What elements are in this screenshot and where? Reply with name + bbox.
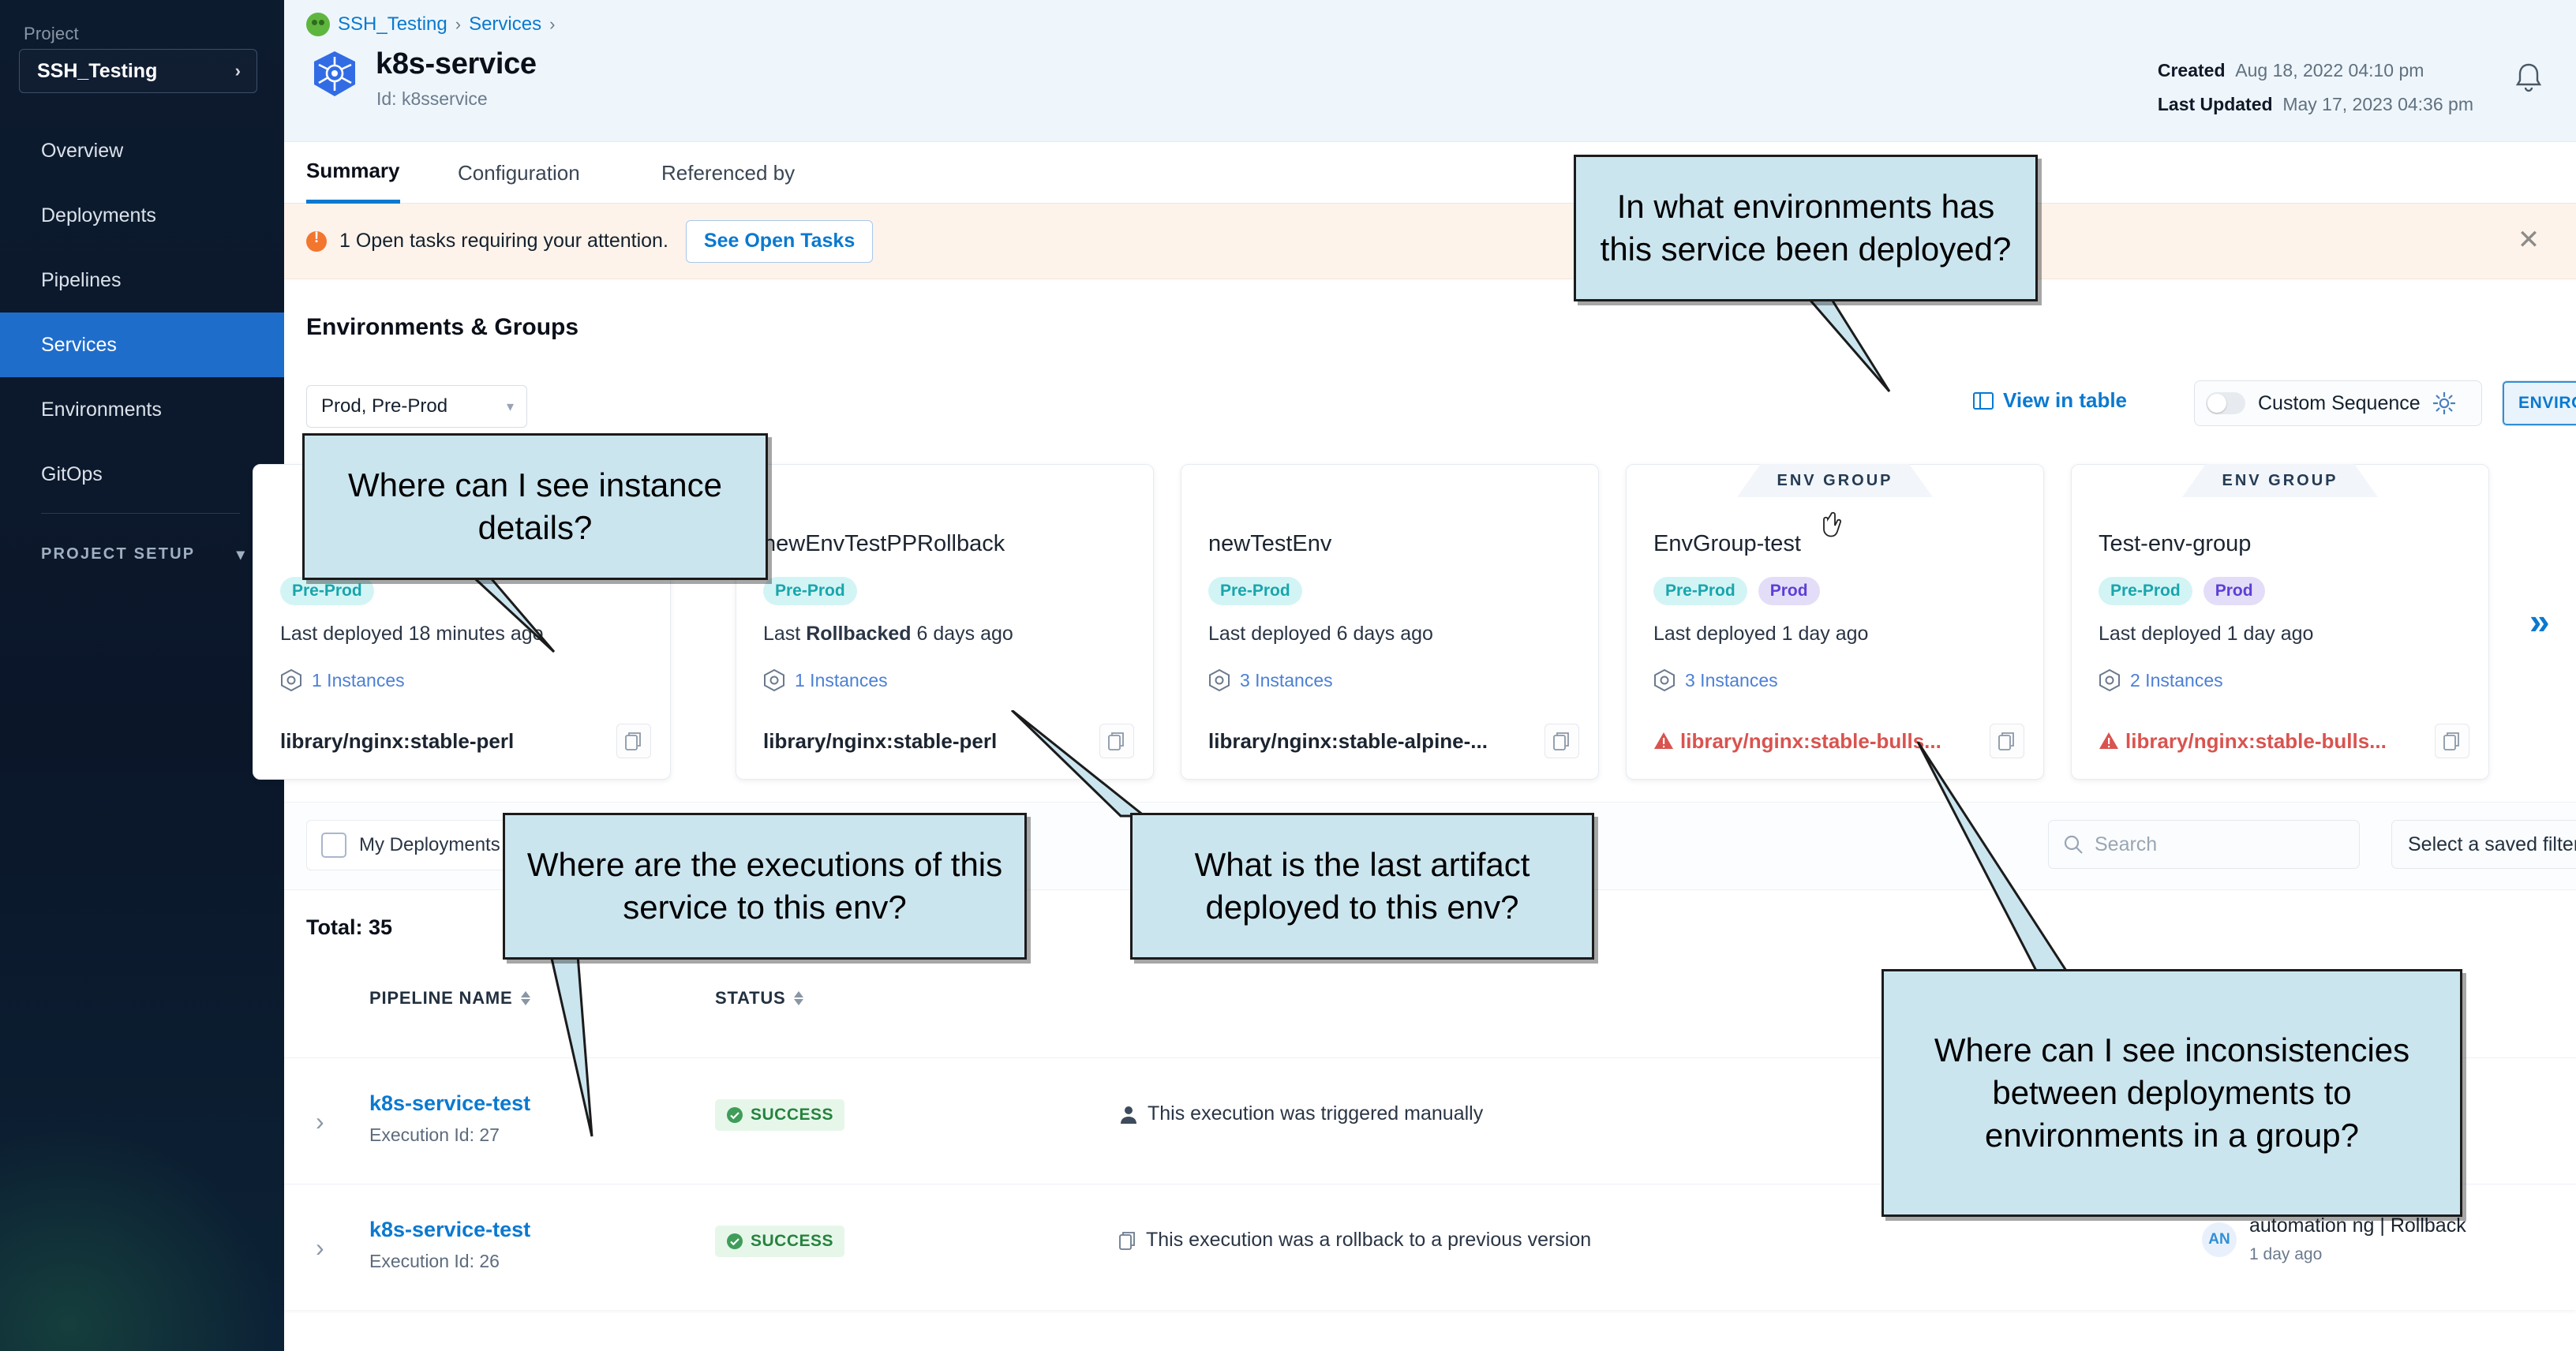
rollback-icon <box>1119 1231 1136 1250</box>
breadcrumb-separator-icon: › <box>455 14 461 35</box>
deployed-prefix: Last deployed <box>1653 623 1782 645</box>
app-root: Project SSH_Testing › Overview Deploymen… <box>0 0 2576 1351</box>
artifact-name: library/nginx:stable-perl <box>280 729 514 754</box>
trigger-text: This execution was triggered manually <box>1148 1102 1483 1125</box>
chip-label: Prod <box>2215 582 2253 601</box>
deployed-suffix: 1 day ago <box>1782 623 1869 645</box>
tab-summary[interactable]: Summary <box>306 142 400 204</box>
saved-filter-value: Select a saved filter <box>2408 833 2576 856</box>
sidebar-item-deployments[interactable]: Deployments <box>0 183 284 248</box>
tab-referenced-by[interactable]: Referenced by <box>661 142 795 204</box>
project-selector-value: SSH_Testing <box>37 60 157 83</box>
execution-id: Execution Id: 26 <box>369 1251 500 1272</box>
chevron-down-icon: ▾ <box>507 399 514 415</box>
environment-filter-dropdown[interactable]: Prod, Pre-Prod ▾ <box>306 385 527 428</box>
environment-type-chips: Pre-Prod Prod <box>1653 577 1820 605</box>
callout-tail-executions <box>505 955 821 1160</box>
environment-name: newTestEnv <box>1208 531 1331 557</box>
copy-icon[interactable] <box>616 724 651 758</box>
env-group-ribbon: ENV GROUP <box>1737 464 1933 497</box>
env-group-label: ENV GROUP <box>2222 472 2338 490</box>
updated-label: Last Updated <box>2158 94 2273 114</box>
my-deployments-label: My Deployments <box>359 834 500 856</box>
tab-bar: Summary Configuration Referenced by <box>284 142 2576 204</box>
environment-group-name: EnvGroup-test <box>1653 531 1801 557</box>
tab-label: Summary <box>306 159 400 183</box>
callout-artifact: What is the last artifact deployed to th… <box>1130 813 1594 960</box>
status-badge: SUCCESS <box>715 1226 844 1257</box>
sidebar-item-gitops[interactable]: GitOps <box>0 442 284 507</box>
user-icon <box>1119 1104 1138 1125</box>
created-value: Aug 18, 2022 04:10 pm <box>2235 60 2424 80</box>
breadcrumb-services[interactable]: Services <box>469 13 541 36</box>
sidebar-project-setup[interactable]: PROJECT SETUP ▾ <box>41 545 246 564</box>
project-selector[interactable]: SSH_Testing › <box>19 49 257 93</box>
my-deployments-checkbox[interactable] <box>321 833 346 858</box>
trigger-text: This execution was a rollback to a previ… <box>1146 1229 1591 1252</box>
sidebar: Project SSH_Testing › Overview Deploymen… <box>0 0 284 1351</box>
instances-label: 3 Instances <box>1240 670 1333 691</box>
success-check-icon <box>726 1233 743 1250</box>
see-open-tasks-label: See Open Tasks <box>704 230 855 253</box>
execution-id: Execution Id: 27 <box>369 1125 500 1146</box>
sidebar-item-overview[interactable]: Overview <box>0 118 284 183</box>
last-deployed-text: Last deployed 1 day ago <box>2099 623 2313 646</box>
chip-label: Pre-Prod <box>1665 582 1735 601</box>
breadcrumb-separator-icon: › <box>549 14 555 35</box>
environment-type-chips: Pre-Prod Prod <box>2099 577 2265 605</box>
chip-pre-prod: Pre-Prod <box>1653 577 1747 605</box>
callout-environments: In what environments has this service be… <box>1574 155 2038 301</box>
environments-artifacts-toggle: ENVIRONMENTS ARTIFACTS <box>2502 380 2576 426</box>
alert-icon <box>306 231 327 252</box>
chevron-down-icon: ▾ <box>237 545 246 564</box>
artifact-name: library/nginx:stable-perl <box>763 729 997 754</box>
sidebar-item-label: Pipelines <box>41 269 121 292</box>
sidebar-item-label: GitOps <box>41 463 103 486</box>
copy-glyph <box>1553 732 1571 750</box>
env-group-label: ENV GROUP <box>1777 472 1893 490</box>
callout-text: Where can I see instance details? <box>322 464 748 549</box>
section-title-environments: Environments & Groups <box>306 314 578 341</box>
sidebar-item-label: Overview <box>41 140 123 163</box>
tab-configuration[interactable]: Configuration <box>458 142 580 204</box>
copy-icon[interactable] <box>1544 724 1579 758</box>
warning-icon <box>1653 732 1674 750</box>
deployed-prefix: Last deployed <box>1208 623 1337 645</box>
total-count: Total: 35 <box>306 915 392 940</box>
sidebar-item-label: Deployments <box>41 204 156 227</box>
project-label: Project <box>24 24 79 44</box>
artifact-label: library/nginx:stable-perl <box>763 729 997 754</box>
avatar-initials: AN <box>2208 1231 2230 1248</box>
chip-prod: Prod <box>1758 577 1820 605</box>
executor-name: automation ng | Rollback <box>2249 1214 2466 1237</box>
expand-row-icon[interactable]: › <box>316 1233 324 1263</box>
callout-inconsistencies: Where can I see inconsistencies between … <box>1881 969 2462 1217</box>
avatar: AN <box>2202 1222 2237 1257</box>
expand-row-icon[interactable]: › <box>316 1107 324 1136</box>
sidebar-glow <box>0 1114 284 1351</box>
sidebar-item-label: Services <box>41 334 117 357</box>
last-deployed-text: Last deployed 6 days ago <box>1208 623 1433 646</box>
project-avatar-icon <box>306 13 330 36</box>
callout-text: What is the last artifact deployed to th… <box>1150 844 1574 929</box>
instances-label: 3 Instances <box>1685 670 1778 691</box>
instances-link[interactable]: 2 Instances <box>2099 668 2223 692</box>
updated-value: May 17, 2023 04:36 pm <box>2282 94 2473 114</box>
tab-label: Configuration <box>458 161 580 185</box>
chevron-right-icon: › <box>235 61 241 81</box>
trigger-info: This execution was a rollback to a previ… <box>1119 1229 1591 1252</box>
environment-group-name: Test-env-group <box>2099 531 2251 557</box>
chip-pre-prod: Pre-Prod <box>1208 577 1302 605</box>
instances-label: 1 Instances <box>795 670 888 691</box>
callout-text: Where can I see inconsistencies between … <box>1901 1029 2443 1156</box>
instance-icon <box>1653 668 1676 692</box>
deployed-suffix: 6 days ago <box>1337 623 1433 645</box>
custom-sequence-label: Custom Sequence <box>2258 392 2421 415</box>
service-id: Id: k8sservice <box>376 88 488 110</box>
close-icon[interactable]: ✕ <box>2514 227 2543 256</box>
cards-next-arrow-icon[interactable]: » <box>2529 600 2550 642</box>
callout-instance-details: Where can I see instance details? <box>302 433 768 580</box>
gear-icon[interactable] <box>2432 391 2457 416</box>
callout-text: In what environments has this service be… <box>1593 185 2018 271</box>
chip-prod: Prod <box>2203 577 2265 605</box>
pipeline-name-link[interactable]: k8s-service-test <box>369 1218 530 1242</box>
callout-text: Where are the executions of this service… <box>522 844 1007 929</box>
saved-filter-dropdown[interactable]: Select a saved filter ▾ <box>2391 820 2576 869</box>
sidebar-nav: Overview Deployments Pipelines Services … <box>0 118 284 507</box>
callout-executions: Where are the executions of this service… <box>503 813 1027 960</box>
last-deployed-text: Last Rollbacked 6 days ago <box>763 623 1013 646</box>
sidebar-item-services[interactable]: Services <box>0 312 284 377</box>
banner-message: 1 Open tasks requiring your attention. <box>339 230 668 253</box>
artifact-label: library/nginx:stable-perl <box>280 729 514 754</box>
page-header: SSH_Testing › Services › k8s-service Id:… <box>284 0 2576 142</box>
segment-environments[interactable]: ENVIRONMENTS <box>2503 381 2576 425</box>
chip-label: Pre-Prod <box>1220 582 1290 601</box>
chip-label: Prod <box>1770 582 1808 601</box>
chip-label: Pre-Prod <box>2110 582 2181 601</box>
see-open-tasks-button[interactable]: See Open Tasks <box>686 220 873 263</box>
instance-icon <box>1208 668 1230 692</box>
copy-icon[interactable] <box>2435 724 2469 758</box>
last-deployed-text: Last deployed 1 day ago <box>1653 623 1868 646</box>
artifact-row: library/nginx:stable-perl <box>280 724 651 758</box>
deployed-suffix: 1 day ago <box>2227 623 2314 645</box>
environment-type-chips: Pre-Prod <box>1208 577 1302 605</box>
mouse-cursor-icon <box>1823 511 1851 548</box>
instance-icon <box>280 668 302 692</box>
chip-pre-prod: Pre-Prod <box>2099 577 2192 605</box>
instances-link[interactable]: 3 Instances <box>1653 668 1778 692</box>
created-label: Created <box>2158 60 2226 80</box>
sidebar-item-pipelines[interactable]: Pipelines <box>0 248 284 312</box>
my-deployments-filter[interactable]: My Deployments <box>306 820 519 870</box>
instances-label: 2 Instances <box>2130 670 2223 691</box>
executed-by: AN automation ng | Rollback 1 day ago <box>2202 1214 2466 1264</box>
column-label: PIPELINE NAME <box>369 988 513 1009</box>
breadcrumb: SSH_Testing › Services › <box>306 13 555 36</box>
env-group-ribbon: ENV GROUP <box>2182 464 2378 497</box>
tab-label: Referenced by <box>661 161 795 185</box>
copy-glyph <box>2443 732 2461 750</box>
sidebar-divider <box>41 513 240 514</box>
sidebar-item-environments[interactable]: Environments <box>0 377 284 442</box>
environment-filter-value: Prod, Pre-Prod <box>321 395 447 417</box>
environment-group-card[interactable]: ENV GROUP Test-env-group Pre-Prod Prod L… <box>2071 464 2489 780</box>
instances-link[interactable]: 3 Instances <box>1208 668 1333 692</box>
sidebar-item-label: Environments <box>41 399 162 421</box>
kubernetes-icon <box>308 49 361 103</box>
executed-time: 1 day ago <box>2249 1245 2466 1264</box>
status-label: SUCCESS <box>751 1232 833 1251</box>
project-setup-label: PROJECT SETUP <box>41 545 195 563</box>
copy-glyph <box>625 732 642 750</box>
instance-icon <box>2099 668 2121 692</box>
breadcrumb-project[interactable]: SSH_Testing <box>338 13 447 36</box>
service-meta: Created Aug 18, 2022 04:10 pm Last Updat… <box>2158 54 2473 121</box>
trigger-info: This execution was triggered manually <box>1119 1102 1483 1125</box>
callout-tail-inconsistencies <box>1886 742 2360 979</box>
deployed-suffix: 6 days ago <box>912 623 1013 645</box>
environment-name: newEnvTestPPRollback <box>763 531 1005 557</box>
notification-bell-icon[interactable] <box>2513 62 2544 95</box>
page-title: k8s-service <box>376 47 537 81</box>
deployed-prefix: Last deployed <box>2099 623 2227 645</box>
segment-label: ENVIRONMENTS <box>2518 394 2576 413</box>
deployed-bold: Rollbacked <box>806 623 911 645</box>
